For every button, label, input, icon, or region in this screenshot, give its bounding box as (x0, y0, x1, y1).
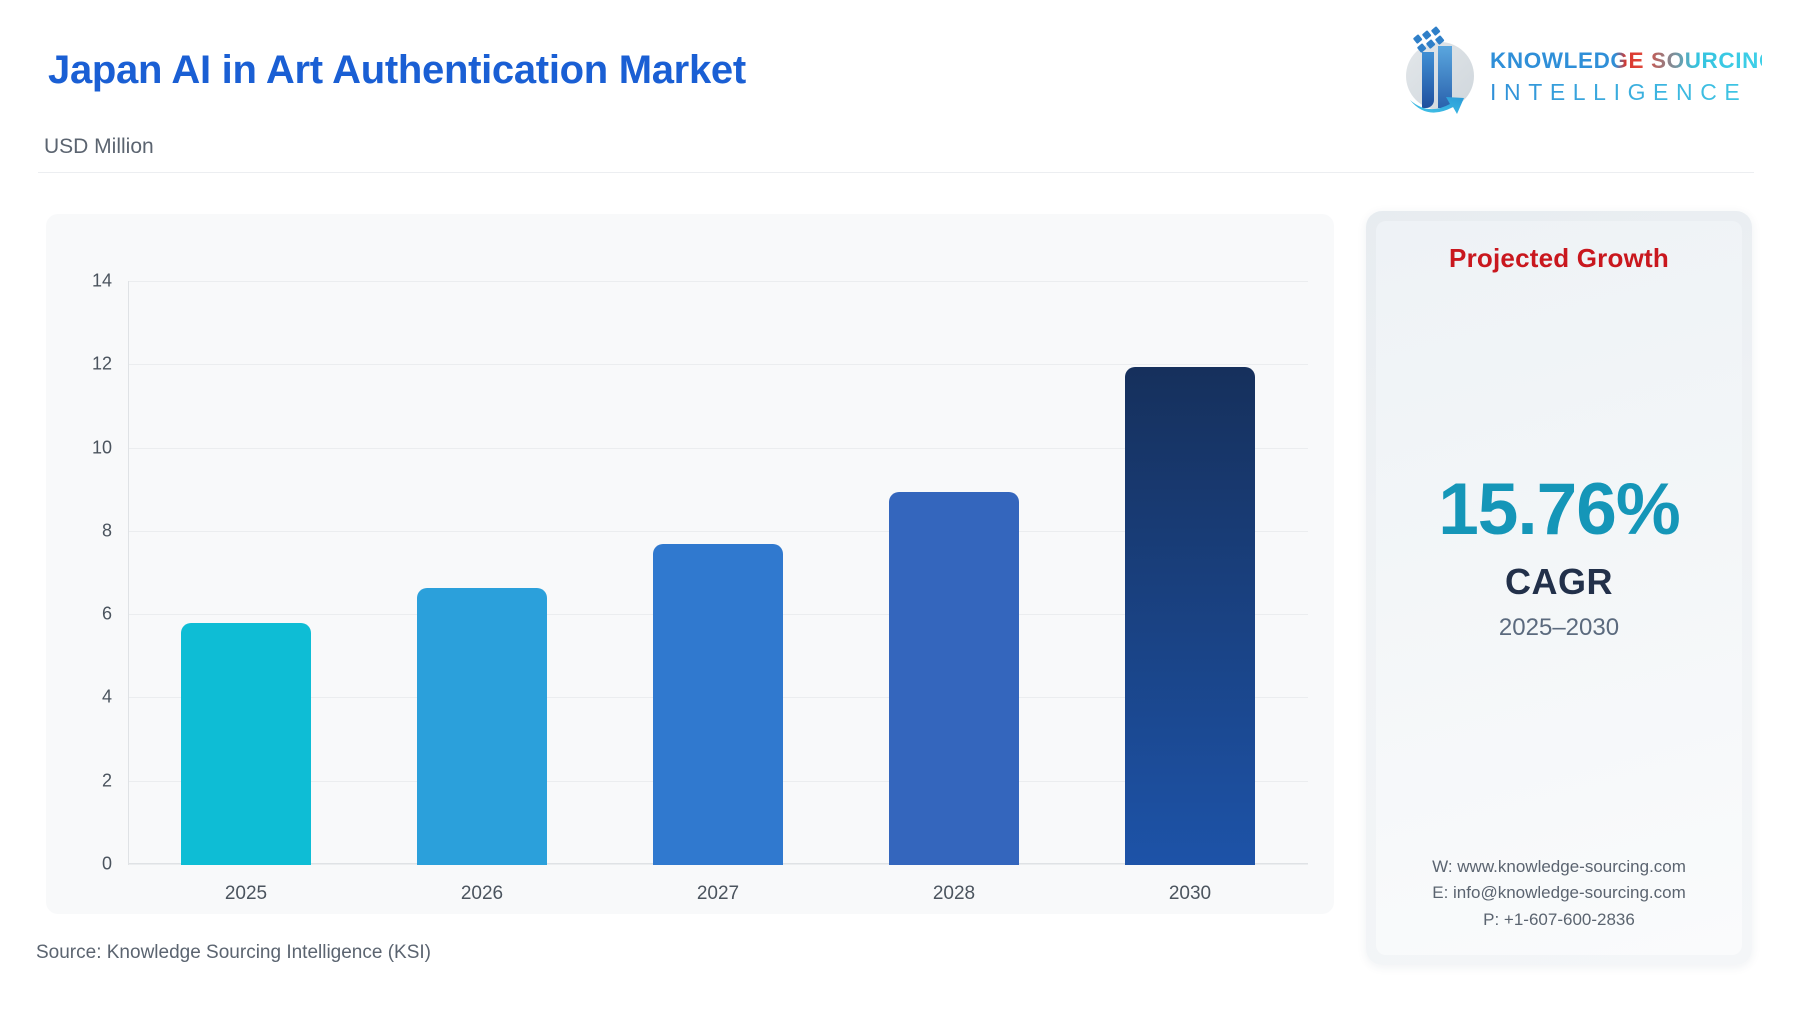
contact-block: W: www.knowledge-sourcing.comE: info@kno… (1376, 854, 1742, 933)
page-header: Japan AI in Art Authentication Market US… (0, 0, 1800, 200)
x-axis-label-2030: 2030 (1169, 883, 1211, 905)
header-divider (38, 172, 1754, 173)
x-axis-label-2026: 2026 (461, 883, 503, 905)
page-title: Japan AI in Art Authentication Market (48, 48, 746, 93)
cagr-period: 2025–2030 (1376, 614, 1742, 642)
cagr-label: CAGR (1376, 561, 1742, 603)
bar-2028[interactable] (889, 492, 1019, 865)
panel-title: Projected Growth (1376, 243, 1742, 274)
y-axis-tick-label: 8 (0, 520, 112, 541)
brand-logo-text: KNOWLEDGE SOURCING INTELLIGENCE (1490, 48, 1762, 108)
y-axis-tick-label: 10 (0, 437, 112, 458)
contact-line-3: P: +1-607-600-2836 (1376, 907, 1742, 933)
cagr-value: 15.76% (1376, 468, 1742, 551)
bar-2026[interactable] (417, 588, 547, 865)
brand-logo: KNOWLEDGE SOURCING INTELLIGENCE (1392, 22, 1760, 122)
bar-2025[interactable] (181, 623, 311, 865)
bar-chart-arrow-globe-icon (1392, 26, 1484, 118)
y-axis-tick-label: 6 (0, 604, 112, 625)
x-axis-label-2028: 2028 (933, 883, 975, 905)
contact-line-1: W: www.knowledge-sourcing.com (1376, 854, 1742, 880)
y-axis-tick-label: 4 (0, 687, 112, 708)
page-subtitle: USD Million (44, 135, 154, 159)
y-axis-tick-label: 14 (0, 271, 112, 292)
projected-growth-panel: Projected Growth 15.76% CAGR 2025–2030 W… (1366, 211, 1752, 965)
source-note: Source: Knowledge Sourcing Intelligence … (36, 942, 431, 964)
brand-logo-line2: INTELLIGENCE (1490, 78, 1762, 108)
x-axis-label-2027: 2027 (697, 883, 739, 905)
bar-series (128, 281, 1308, 865)
bar-2027[interactable] (653, 544, 783, 865)
brand-logo-line1: KNOWLEDGE SOURCING (1490, 48, 1762, 74)
y-axis-tick-label: 12 (0, 354, 112, 375)
bar-chart-plot: 02468101214 20252026202720282030 (128, 281, 1308, 864)
x-axis-label-2025: 2025 (225, 883, 267, 905)
y-axis-tick-label: 2 (0, 770, 112, 791)
chart-card: 02468101214 20252026202720282030 (46, 214, 1334, 914)
contact-line-2: E: info@knowledge-sourcing.com (1376, 880, 1742, 906)
projected-growth-panel-inner: Projected Growth 15.76% CAGR 2025–2030 W… (1376, 221, 1742, 955)
bar-2030[interactable] (1125, 367, 1255, 865)
infographic-root: Japan AI in Art Authentication Market US… (0, 0, 1800, 1012)
y-axis-tick-label: 0 (0, 854, 112, 875)
